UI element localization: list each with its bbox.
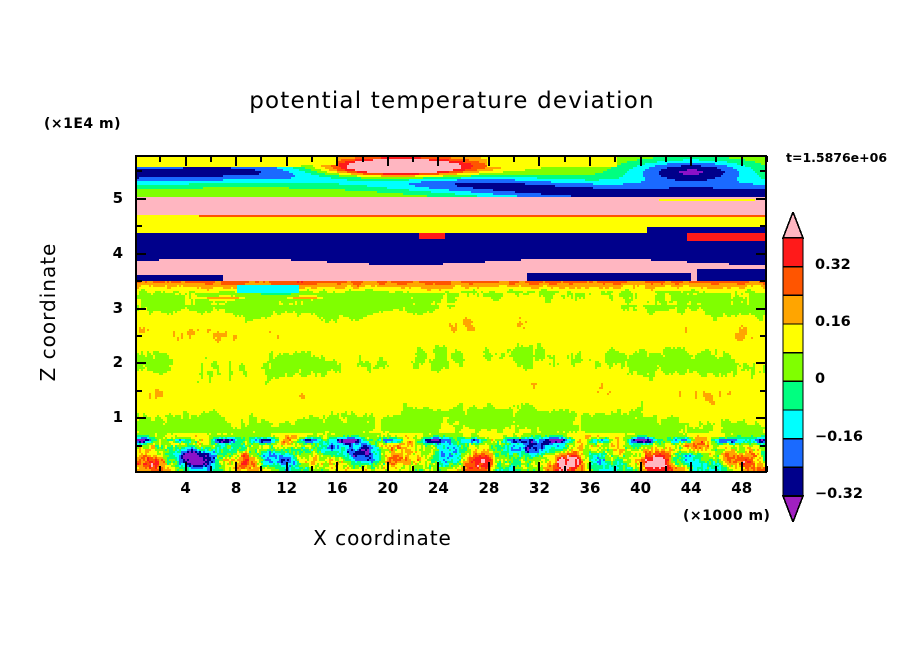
x-tick-label: 36 — [570, 479, 610, 497]
y-tick-label: 3 — [95, 299, 123, 317]
time-annotation: t=1.5876e+06 — [786, 150, 887, 165]
x-axis-unit-label: (×1000 m) — [683, 508, 770, 524]
x-tick-label: 44 — [671, 479, 711, 497]
contour-plot-canvas — [135, 155, 767, 473]
y-axis-title: Z coordinate — [36, 192, 60, 432]
x-tick-label: 12 — [267, 479, 307, 497]
x-tick-label: 48 — [722, 479, 762, 497]
x-tick-label: 28 — [469, 479, 509, 497]
colorbar-tick-label: 0.16 — [815, 314, 851, 330]
y-tick-label: 4 — [95, 244, 123, 262]
y-tick-label: 5 — [95, 189, 123, 207]
x-tick-label: 40 — [621, 479, 661, 497]
y-tick-label: 2 — [95, 353, 123, 371]
x-tick-label: 8 — [216, 479, 256, 497]
x-tick-label: 32 — [519, 479, 559, 497]
colorbar-tick-label: −0.32 — [815, 486, 863, 502]
x-tick-label: 24 — [418, 479, 458, 497]
x-tick-label: 16 — [317, 479, 357, 497]
colorbar-tick-label: −0.16 — [815, 429, 863, 445]
x-tick-label: 20 — [368, 479, 408, 497]
page-title: potential temperature deviation — [0, 88, 904, 114]
colorbar[interactable] — [770, 212, 820, 522]
x-tick-label: 4 — [166, 479, 206, 497]
y-axis-unit-label: (×1E4 m) — [44, 116, 121, 132]
y-tick-label: 1 — [95, 408, 123, 426]
colorbar-tick-label: 0.32 — [815, 257, 851, 273]
x-axis-title: X coordinate — [0, 526, 765, 550]
